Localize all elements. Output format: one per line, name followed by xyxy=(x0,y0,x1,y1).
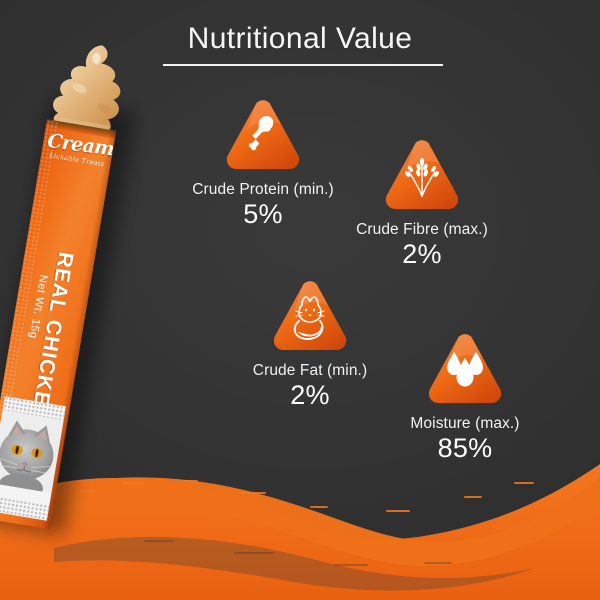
badge-shape-crude-fat xyxy=(268,277,352,355)
title-underline xyxy=(163,64,443,66)
nutrition-item-crude-fibre[interactable]: Crude Fibre (max.) 2% xyxy=(327,136,517,270)
infographic-canvas: Nutritional Value xyxy=(0,0,600,600)
nutrition-value: 85% xyxy=(370,434,560,464)
nutrition-item-moisture[interactable]: Moisture (max.) 85% xyxy=(370,330,560,464)
nutrition-label: Moisture (max.) xyxy=(370,415,560,433)
nutrition-value: 2% xyxy=(327,240,517,270)
orange-brush-stroke xyxy=(0,444,600,600)
badge-shape-crude-fibre xyxy=(380,136,464,214)
nutrition-label: Crude Fibre (max.) xyxy=(327,221,517,239)
page-title: Nutritional Value xyxy=(184,22,417,62)
badge-shape-moisture xyxy=(423,330,507,408)
halftone-texture-bottom xyxy=(0,495,49,521)
badge-shape-crude-protein xyxy=(221,96,305,174)
